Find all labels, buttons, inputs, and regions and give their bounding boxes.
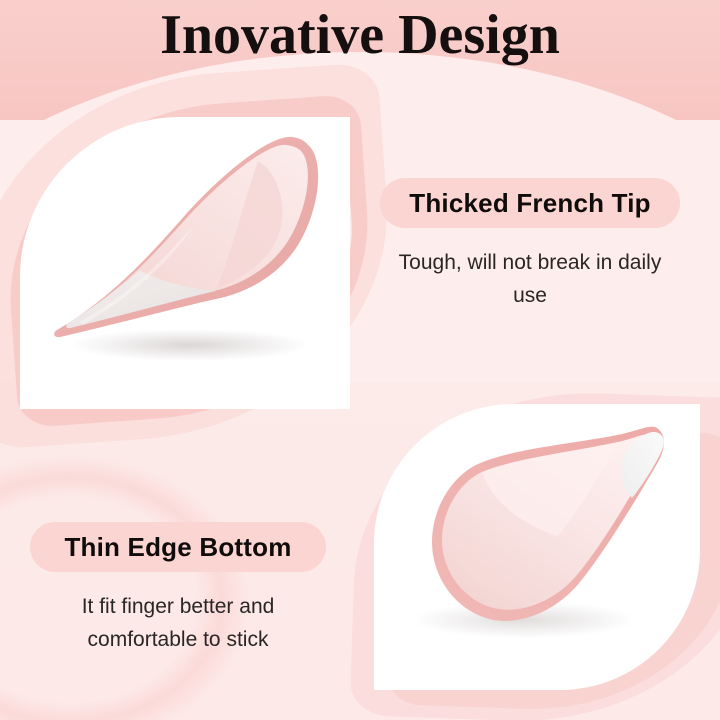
nail-side-view-illustration [20,117,350,409]
page-title: Inovative Design [0,4,720,66]
feature-description-thicked-french-tip: Tough, will not break in daily use [380,246,680,312]
feature-image-card-thin-edge-bottom [374,404,700,690]
feature-text-thin-edge-bottom: Thin Edge Bottom It fit finger better an… [30,522,326,656]
feature-pill-thicked-french-tip: Thicked French Tip [380,178,680,228]
feature-pill-thin-edge-bottom: Thin Edge Bottom [30,522,326,572]
infographic-canvas: Inovative Design [0,0,720,720]
nail-thin-edge-illustration [374,404,700,690]
feature-text-thicked-french-tip: Thicked French Tip Tough, will not break… [380,178,680,312]
feature-image-card-thicked-french-tip [20,117,350,409]
feature-description-thin-edge-bottom: It fit finger better and comfortable to … [30,590,326,656]
